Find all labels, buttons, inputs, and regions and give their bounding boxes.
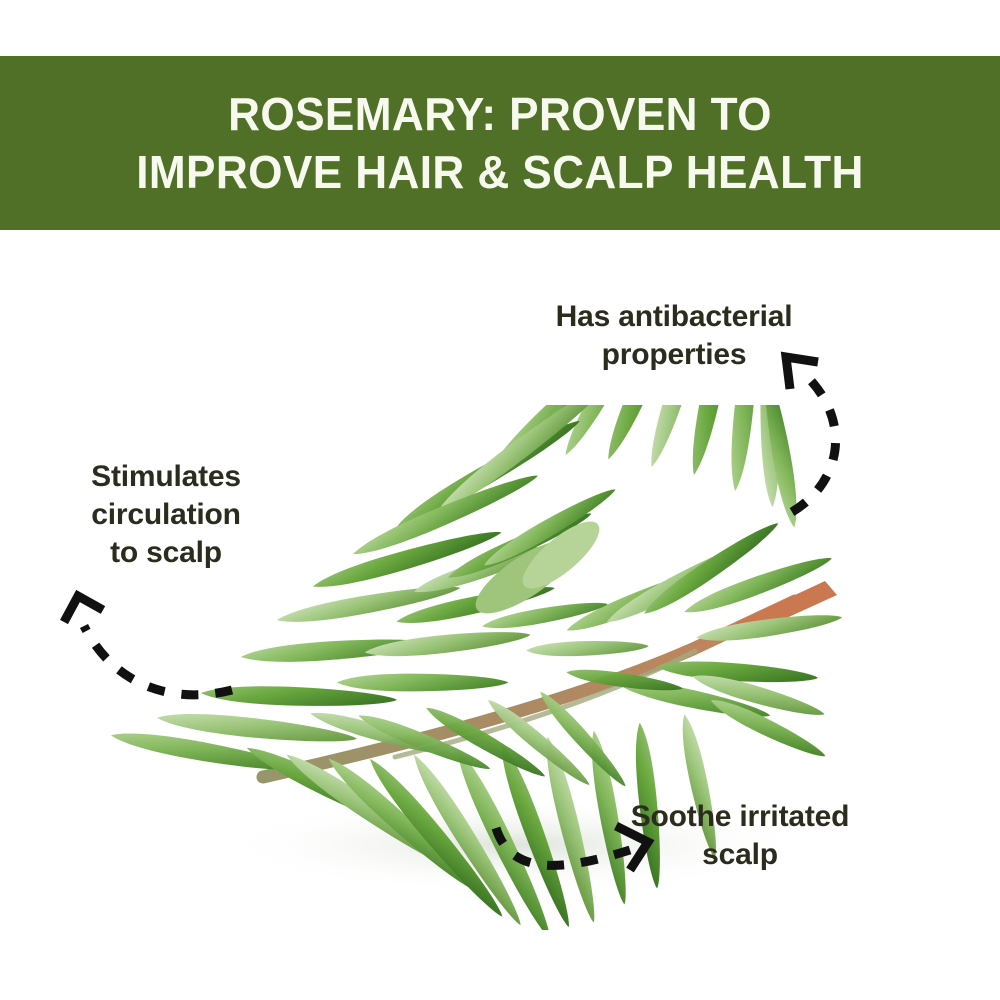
header-band: ROSEMARY: PROVEN TO IMPROVE HAIR & SCALP… <box>0 56 1000 230</box>
page-title-line-1: ROSEMARY: PROVEN TO <box>49 85 951 143</box>
content-stage: Has antibacterial properties Stimulates … <box>0 230 1000 1000</box>
callout-circulation-label: Stimulates circulation to scalp <box>38 458 294 572</box>
page-title-line-2: IMPROVE HAIR & SCALP HEALTH <box>49 143 951 201</box>
callout-soothe-label: Soothe irritated scalp <box>580 798 900 874</box>
rosemary-benefits-infographic: ROSEMARY: PROVEN TO IMPROVE HAIR & SCALP… <box>0 0 1000 1000</box>
callout-antibacterial-label: Has antibacterial properties <box>500 298 848 374</box>
page-title: ROSEMARY: PROVEN TO IMPROVE HAIR & SCALP… <box>49 85 951 201</box>
